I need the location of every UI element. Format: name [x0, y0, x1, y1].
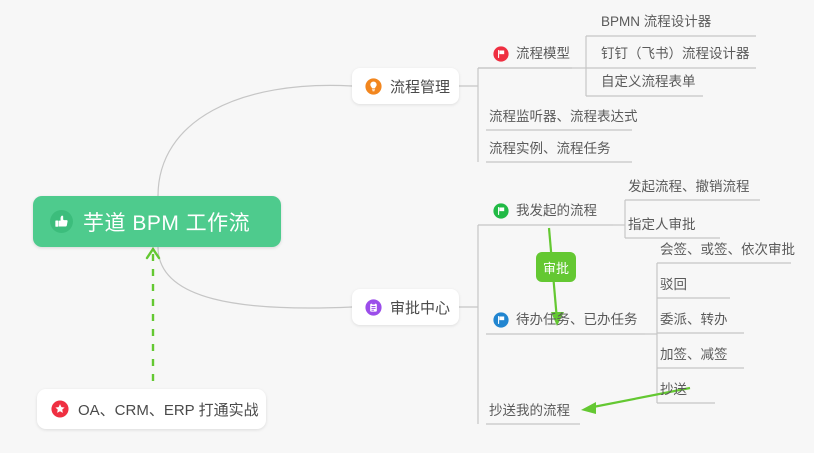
mindmap-canvas: 芋道 BPM 工作流 流程管理 审批中心 [0, 0, 814, 453]
leaf-my-initiated-process[interactable]: 我发起的流程 [493, 202, 597, 224]
link-root-to-process-mgmt [158, 85, 352, 196]
leaf-label-custom-process-form: 自定义流程表单 [601, 73, 696, 91]
branch-node-process-management[interactable]: 流程管理 [352, 68, 459, 104]
leaf-cc[interactable]: 抄送 [660, 381, 687, 403]
leaf-custom-process-form[interactable]: 自定义流程表单 [601, 73, 696, 95]
leaf-cc-to-me-process[interactable]: 抄送我的流程 [489, 402, 570, 424]
star-icon [51, 400, 69, 418]
leaf-bpmn-designer[interactable]: BPMN 流程设计器 [601, 13, 711, 35]
leaf-label-dingtalk-feishu-designer: 钉钉（飞书）流程设计器 [601, 45, 750, 63]
leaf-label-cc-to-me-process: 抄送我的流程 [489, 402, 570, 420]
leaf-label-process-instance-task: 流程实例、流程任务 [489, 140, 611, 158]
thumbs-up-icon [49, 209, 74, 234]
leaf-process-listener-expression[interactable]: 流程监听器、流程表达式 [489, 108, 638, 130]
leaf-add-remove-sign[interactable]: 加签、减签 [660, 346, 728, 368]
link-root-to-approval-center [158, 247, 352, 308]
arrowhead-integration [147, 249, 159, 258]
node-integration-label: OA、CRM、ERP 打通实战 [78, 399, 259, 420]
leaf-todo-done-tasks[interactable]: 待办任务、已办任务 [493, 311, 638, 333]
flag-icon [493, 46, 509, 62]
leaf-reject[interactable]: 驳回 [660, 276, 687, 298]
lightbulb-icon [365, 78, 382, 95]
annotation-chip-approve[interactable]: 审批 [536, 252, 576, 282]
leaf-delegate-transfer[interactable]: 委派、转办 [660, 311, 728, 333]
leaf-label-assignee-approval: 指定人审批 [628, 216, 696, 234]
leaf-start-cancel-process[interactable]: 发起流程、撤销流程 [628, 178, 750, 200]
leaf-label-add-remove-sign: 加签、减签 [660, 346, 728, 364]
branch-label-process-management: 流程管理 [390, 76, 450, 97]
leaf-process-instance-task[interactable]: 流程实例、流程任务 [489, 140, 611, 162]
leaf-label-process-model: 流程模型 [516, 45, 570, 63]
arrowhead-cc [581, 402, 596, 414]
branch-label-approval-center: 审批中心 [390, 297, 450, 318]
leaf-assignee-approval[interactable]: 指定人审批 [628, 216, 696, 238]
root-node[interactable]: 芋道 BPM 工作流 [33, 196, 281, 247]
leaf-label-countersign-or-sequential: 会签、或签、依次审批 [660, 241, 795, 259]
leaf-label-bpmn-designer: BPMN 流程设计器 [601, 13, 711, 31]
leaf-dingtalk-feishu-designer[interactable]: 钉钉（飞书）流程设计器 [601, 45, 750, 67]
annotation-chip-approve-label: 审批 [543, 258, 569, 277]
leaf-label-delegate-transfer: 委派、转办 [660, 311, 728, 329]
root-label: 芋道 BPM 工作流 [83, 207, 250, 237]
leaf-label-my-initiated-process: 我发起的流程 [516, 202, 597, 220]
leaf-countersign-or-sequential[interactable]: 会签、或签、依次审批 [660, 241, 795, 263]
branch-node-approval-center[interactable]: 审批中心 [352, 289, 459, 325]
leaf-label-process-listener-expression: 流程监听器、流程表达式 [489, 108, 638, 126]
flag-icon [493, 203, 509, 219]
leaf-label-start-cancel-process: 发起流程、撤销流程 [628, 178, 750, 196]
flag-icon [493, 312, 509, 328]
node-integration-practice[interactable]: OA、CRM、ERP 打通实战 [37, 389, 266, 429]
leaf-process-model[interactable]: 流程模型 [493, 45, 570, 67]
clipboard-icon [365, 299, 382, 316]
leaf-label-reject: 驳回 [660, 276, 687, 294]
leaf-label-cc: 抄送 [660, 381, 687, 399]
leaf-label-todo-done-tasks: 待办任务、已办任务 [516, 311, 638, 329]
